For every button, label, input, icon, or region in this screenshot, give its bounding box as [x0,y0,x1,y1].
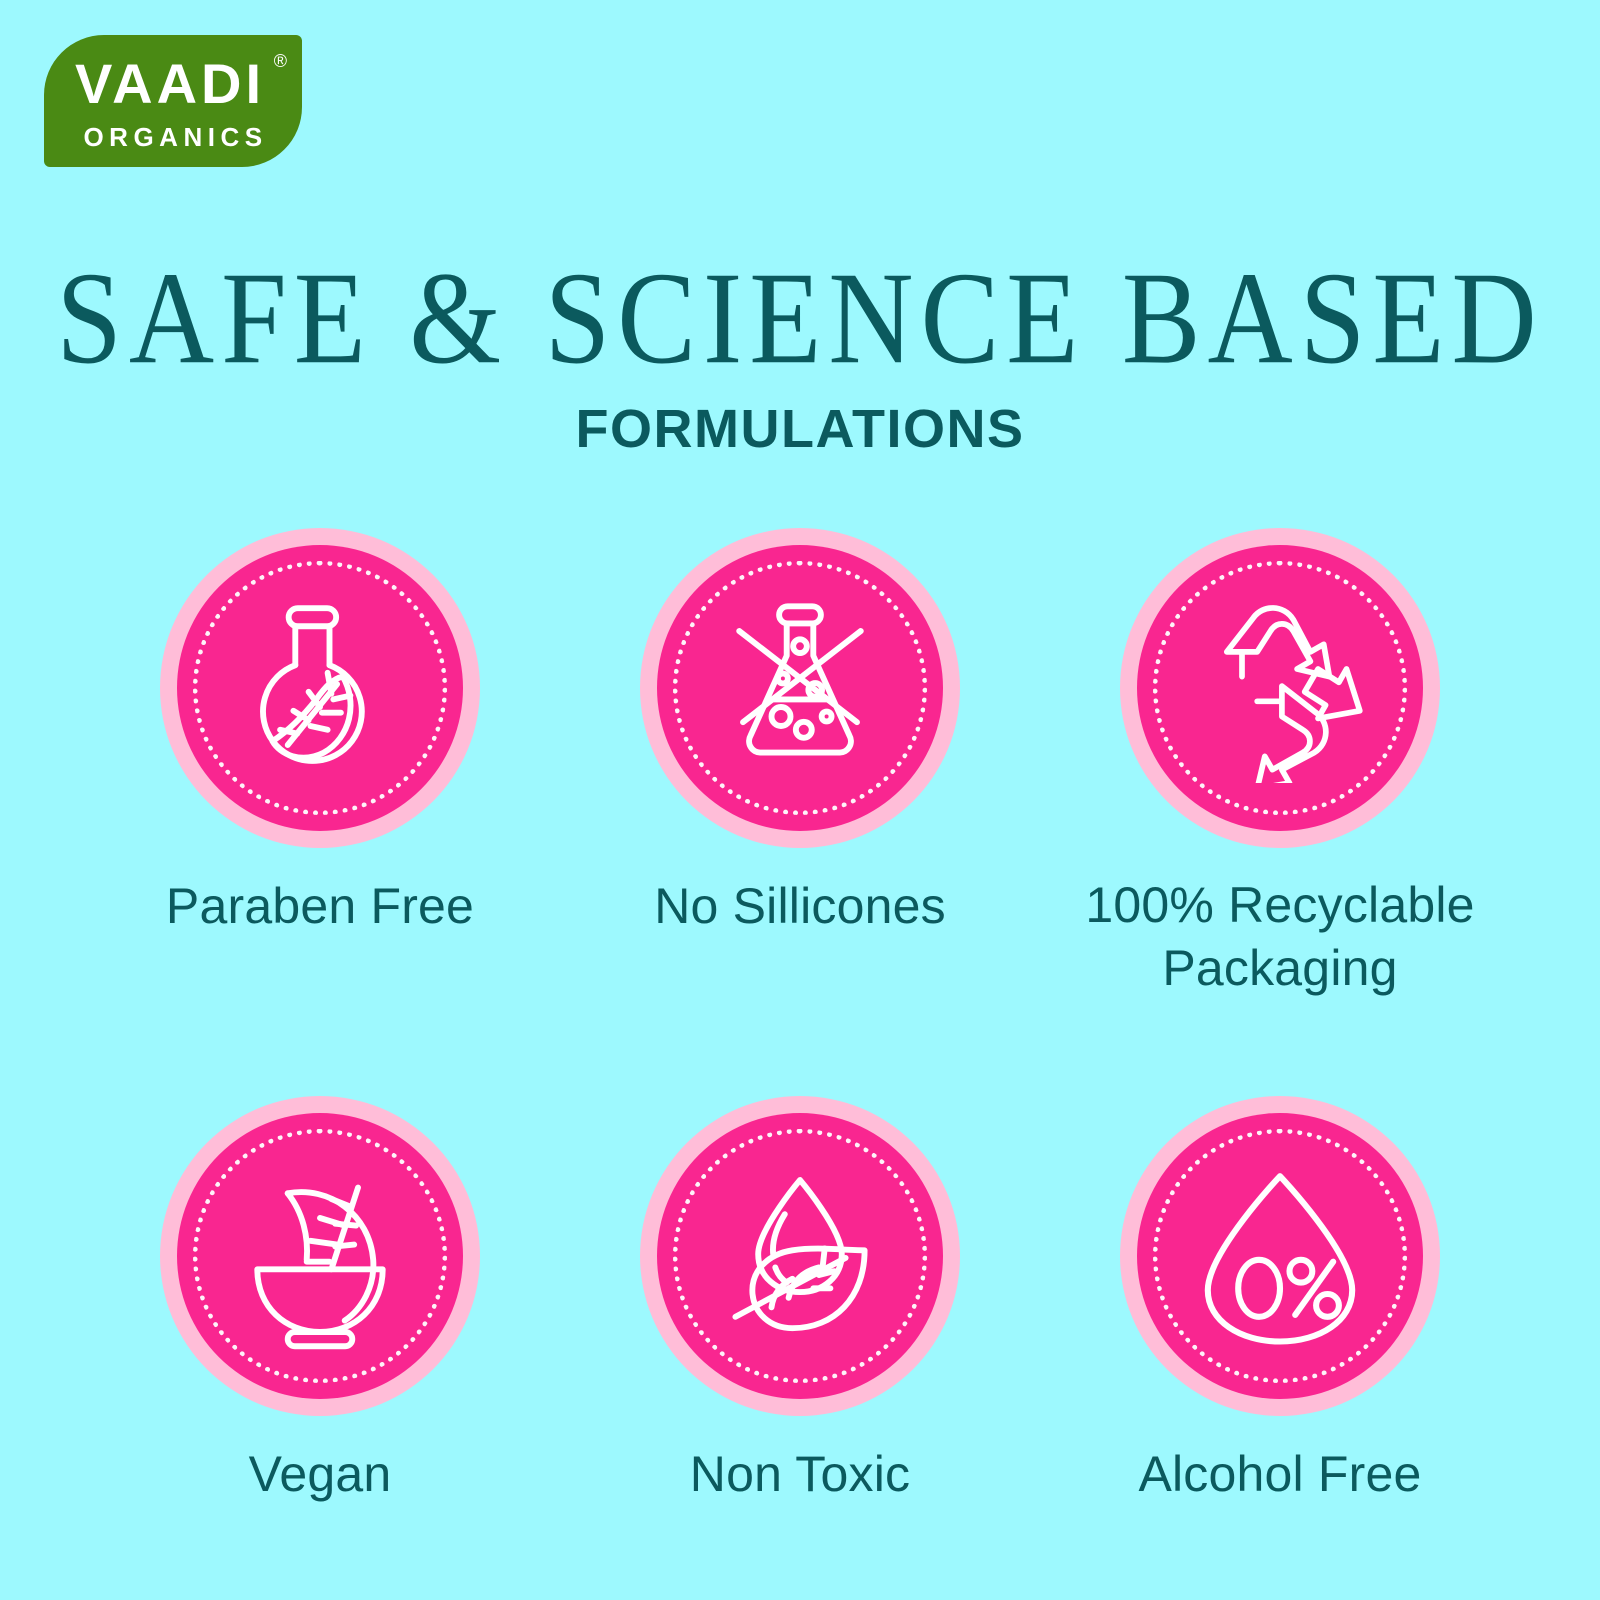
promo-graphic: VAADI® ORGANICS SAFE & SCIENCE BASED FOR… [0,0,1600,1600]
feature-badge-vegan: Vegan [80,1096,560,1506]
feature-badge-paraben-free: Paraben Free [80,528,560,1000]
badge-label: Paraben Free [166,874,474,938]
brand-logo: VAADI® ORGANICS [44,35,302,167]
bowl-leaf-icon [225,1161,415,1351]
badge-label: Vegan [249,1442,392,1506]
flask-crossed-out-icon [705,593,895,783]
badge-ring [640,1096,960,1416]
brand-name: VAADI® [75,56,271,112]
page-subtitle: FORMULATIONS [0,402,1600,456]
badge-disc [657,545,943,831]
feature-badge-grid: Paraben Free [80,528,1520,1506]
brand-name-text: VAADI [75,52,265,115]
badge-ring [1120,1096,1440,1416]
badge-ring [160,528,480,848]
badge-disc [657,1113,943,1399]
badge-ring [1120,528,1440,848]
badge-ring [160,1096,480,1416]
flask-leaf-icon [225,593,415,783]
badge-disc [177,1113,463,1399]
page-title: SAFE & SCIENCE BASED [0,248,1600,388]
feature-badge-alcohol-free: Alcohol Free [1040,1096,1520,1506]
feature-badge-no-sillicones: No Sillicones [560,528,1040,1000]
badge-disc [177,545,463,831]
feature-badge-recyclable-packaging: 100% Recyclable Packaging [1040,528,1520,1000]
badge-label: Non Toxic [690,1442,910,1506]
badge-label: Alcohol Free [1138,1442,1421,1506]
feature-badge-non-toxic: Non Toxic [560,1096,1040,1506]
droplet-zero-percent-icon [1185,1161,1375,1351]
badge-label-line2: Packaging [1162,940,1397,996]
recycle-icon [1185,593,1375,783]
brand-tagline: ORGANICS [78,124,267,150]
badge-disc [1137,1113,1423,1399]
registered-trademark-icon: ® [274,52,287,70]
badge-disc [1137,545,1423,831]
badge-label: No Sillicones [654,874,946,938]
droplet-leaf-icon [705,1161,895,1351]
badge-label: 100% Recyclable Packaging [1085,874,1474,1000]
badge-label-line1: 100% Recyclable [1085,877,1474,933]
badge-ring [640,528,960,848]
